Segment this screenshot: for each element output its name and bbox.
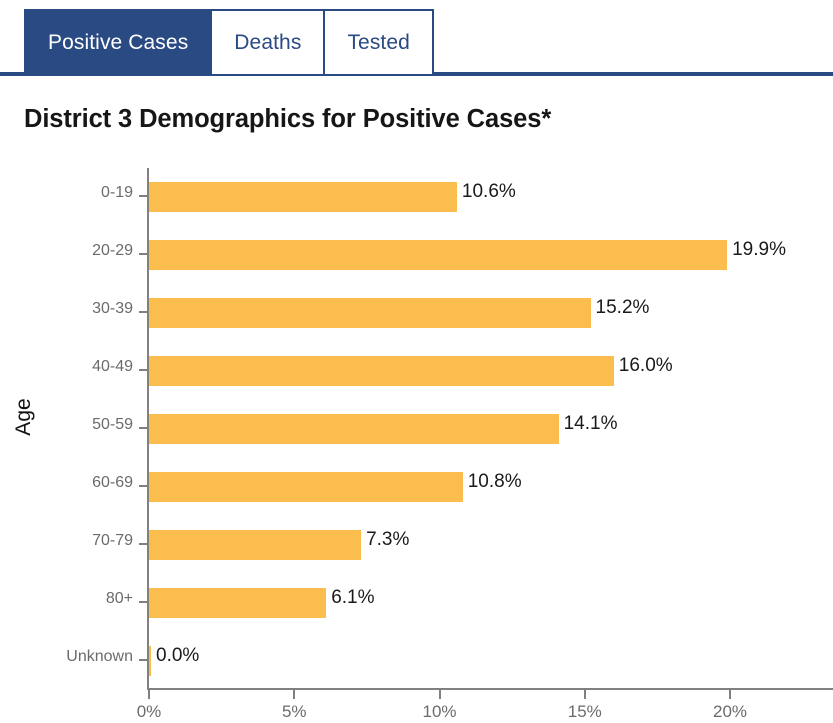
bar[interactable] [149,182,457,212]
bar-row: 50-5914.1% [0,400,833,458]
bar-value-label: 19.9% [732,239,786,261]
tab-deaths[interactable]: Deaths [211,9,324,76]
y-axis-tick-label: 80+ [0,590,133,608]
y-axis-tick-mark [139,311,147,313]
bar[interactable] [149,472,463,502]
y-axis-tick-mark [139,543,147,545]
y-axis-tick-label: 70-79 [0,532,133,550]
bar-row: 80+6.1% [0,574,833,632]
bar-row: 70-797.3% [0,516,833,574]
x-axis-tick-label: 0% [137,702,162,722]
x-axis-tick-label: 10% [422,702,456,722]
page-title: District 3 Demographics for Positive Cas… [24,105,551,134]
tab-tested[interactable]: Tested [324,9,433,76]
x-axis-tick-label: 20% [713,702,747,722]
y-axis-tick-mark [139,369,147,371]
y-axis-tick-mark [139,601,147,603]
bar-row: Unknown0.0% [0,632,833,690]
tab-list: Positive Cases Deaths Tested [24,9,434,76]
bar-value-label: 10.8% [468,471,522,493]
tab-strip: Positive Cases Deaths Tested [0,0,833,76]
bar-value-label: 16.0% [619,355,673,377]
bar-row: 60-6910.8% [0,458,833,516]
bar[interactable] [149,356,614,386]
bar-row: 20-2919.9% [0,226,833,284]
y-axis-tick-mark [139,659,147,661]
y-axis-tick-label: 50-59 [0,416,133,434]
x-axis-tick-mark [148,690,150,699]
y-axis-tick-mark [139,427,147,429]
x-axis-tick-mark [293,690,295,699]
x-axis-tick-label: 5% [282,702,307,722]
bar-value-label: 10.6% [462,181,516,203]
y-axis-tick-label: 20-29 [0,242,133,260]
y-axis-tick-mark [139,253,147,255]
y-axis-tick-label: 0-19 [0,184,133,202]
x-axis-tick-label: 15% [568,702,602,722]
bar[interactable] [149,588,326,618]
y-axis-tick-label: 30-39 [0,300,133,318]
bar[interactable] [149,240,727,270]
x-axis-tick-mark [584,690,586,699]
tab-positive-cases-label: Positive Cases [48,31,188,55]
y-axis-tick-mark [139,195,147,197]
bar-value-label: 7.3% [366,529,409,551]
tab-tested-label: Tested [347,31,409,55]
x-axis-tick-mark [439,690,441,699]
y-axis-tick-label: 40-49 [0,358,133,376]
bar-row: 40-4916.0% [0,342,833,400]
bar[interactable] [149,298,591,328]
x-axis-tick-mark [729,690,731,699]
y-axis-tick-label: Unknown [0,648,133,666]
bar-row: 30-3915.2% [0,284,833,342]
tab-positive-cases[interactable]: Positive Cases [24,9,211,76]
bar-value-label: 6.1% [331,587,374,609]
bar-value-label: 14.1% [564,413,618,435]
bar-chart: Age 0-1910.6%20-2919.9%30-3915.2%40-4916… [0,150,833,723]
tab-deaths-label: Deaths [234,31,301,55]
bar-value-label: 15.2% [596,297,650,319]
y-axis-tick-label: 60-69 [0,474,133,492]
bar[interactable] [149,646,151,676]
bar[interactable] [149,414,559,444]
bar[interactable] [149,530,361,560]
bar-row: 0-1910.6% [0,168,833,226]
bar-value-label: 0.0% [156,645,199,667]
y-axis-tick-mark [139,485,147,487]
